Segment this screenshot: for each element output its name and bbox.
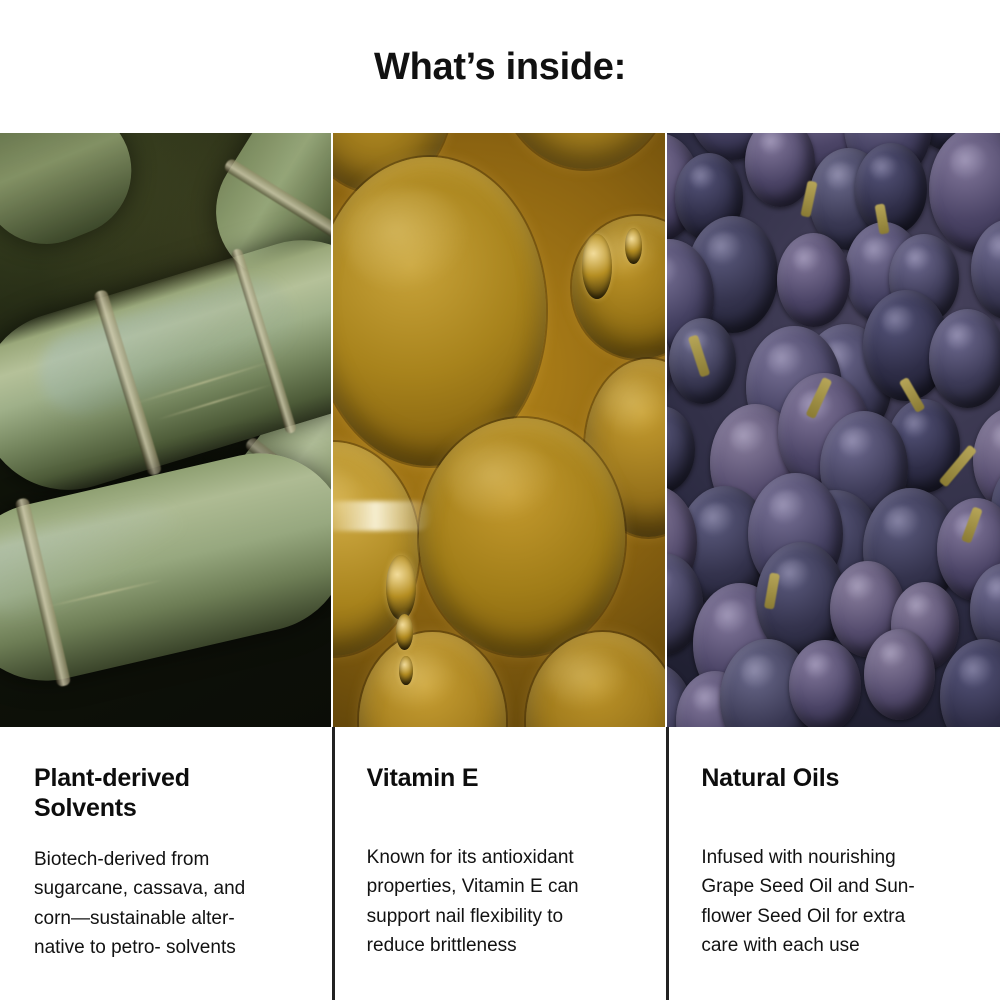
ingredient-card-plant-derived-solvents: Plant-derived Solvents Biotech-derived f… [0,133,331,1000]
page-title: What’s inside: [374,48,626,86]
grape-berry [777,233,850,327]
card-title-1: Plant-derived Solvents [34,763,297,823]
column-divider-2 [666,727,669,1000]
oil-bubble-small [396,614,413,650]
oil-highlight [333,501,433,531]
sugarcane-fiber [157,383,271,420]
oil-bubble-small [386,555,416,620]
sugarcane-node [223,157,331,250]
oil-bubble-small [399,656,412,686]
dark-grapes-cluster-photo [667,133,1000,727]
card-text-1: Plant-derived Solvents Biotech-derived f… [0,727,331,1000]
card-body-1: Biotech-derived from sugarcane, cassava,… [34,845,297,963]
golden-oil-bubbles-photo [333,133,666,727]
grape-berry [789,640,861,727]
card-title-2: Vitamin E [367,763,632,793]
card-text-3: Natural Oils Infused with nourishing Gra… [667,727,1000,1000]
grape-berry [855,143,927,236]
ingredient-card-vitamin-e: Vitamin E Known for its antioxidant prop… [333,133,666,1000]
header-bar: What’s inside: [0,0,1000,133]
card-body-3: Infused with nourishing Grape Seed Oil a… [701,843,966,961]
ingredient-columns: Plant-derived Solvents Biotech-derived f… [0,133,1000,1000]
oil-bubble-small [625,228,642,264]
column-divider-1 [332,727,335,1000]
product-ingredients-infographic: What’s inside: [0,0,1000,1000]
oil-bubble-small [582,234,612,299]
card-body-2: Known for its antioxidant properties, Vi… [367,843,632,961]
card-text-2: Vitamin E Known for its antioxidant prop… [333,727,666,1000]
oil-bubble [419,418,625,656]
grape-berry [929,309,1000,408]
sugarcane-stalks-photo [0,133,331,727]
grape-berry [864,629,934,720]
card-title-3: Natural Oils [701,763,966,793]
ingredient-card-natural-oils: Natural Oils Infused with nourishing Gra… [667,133,1000,1000]
